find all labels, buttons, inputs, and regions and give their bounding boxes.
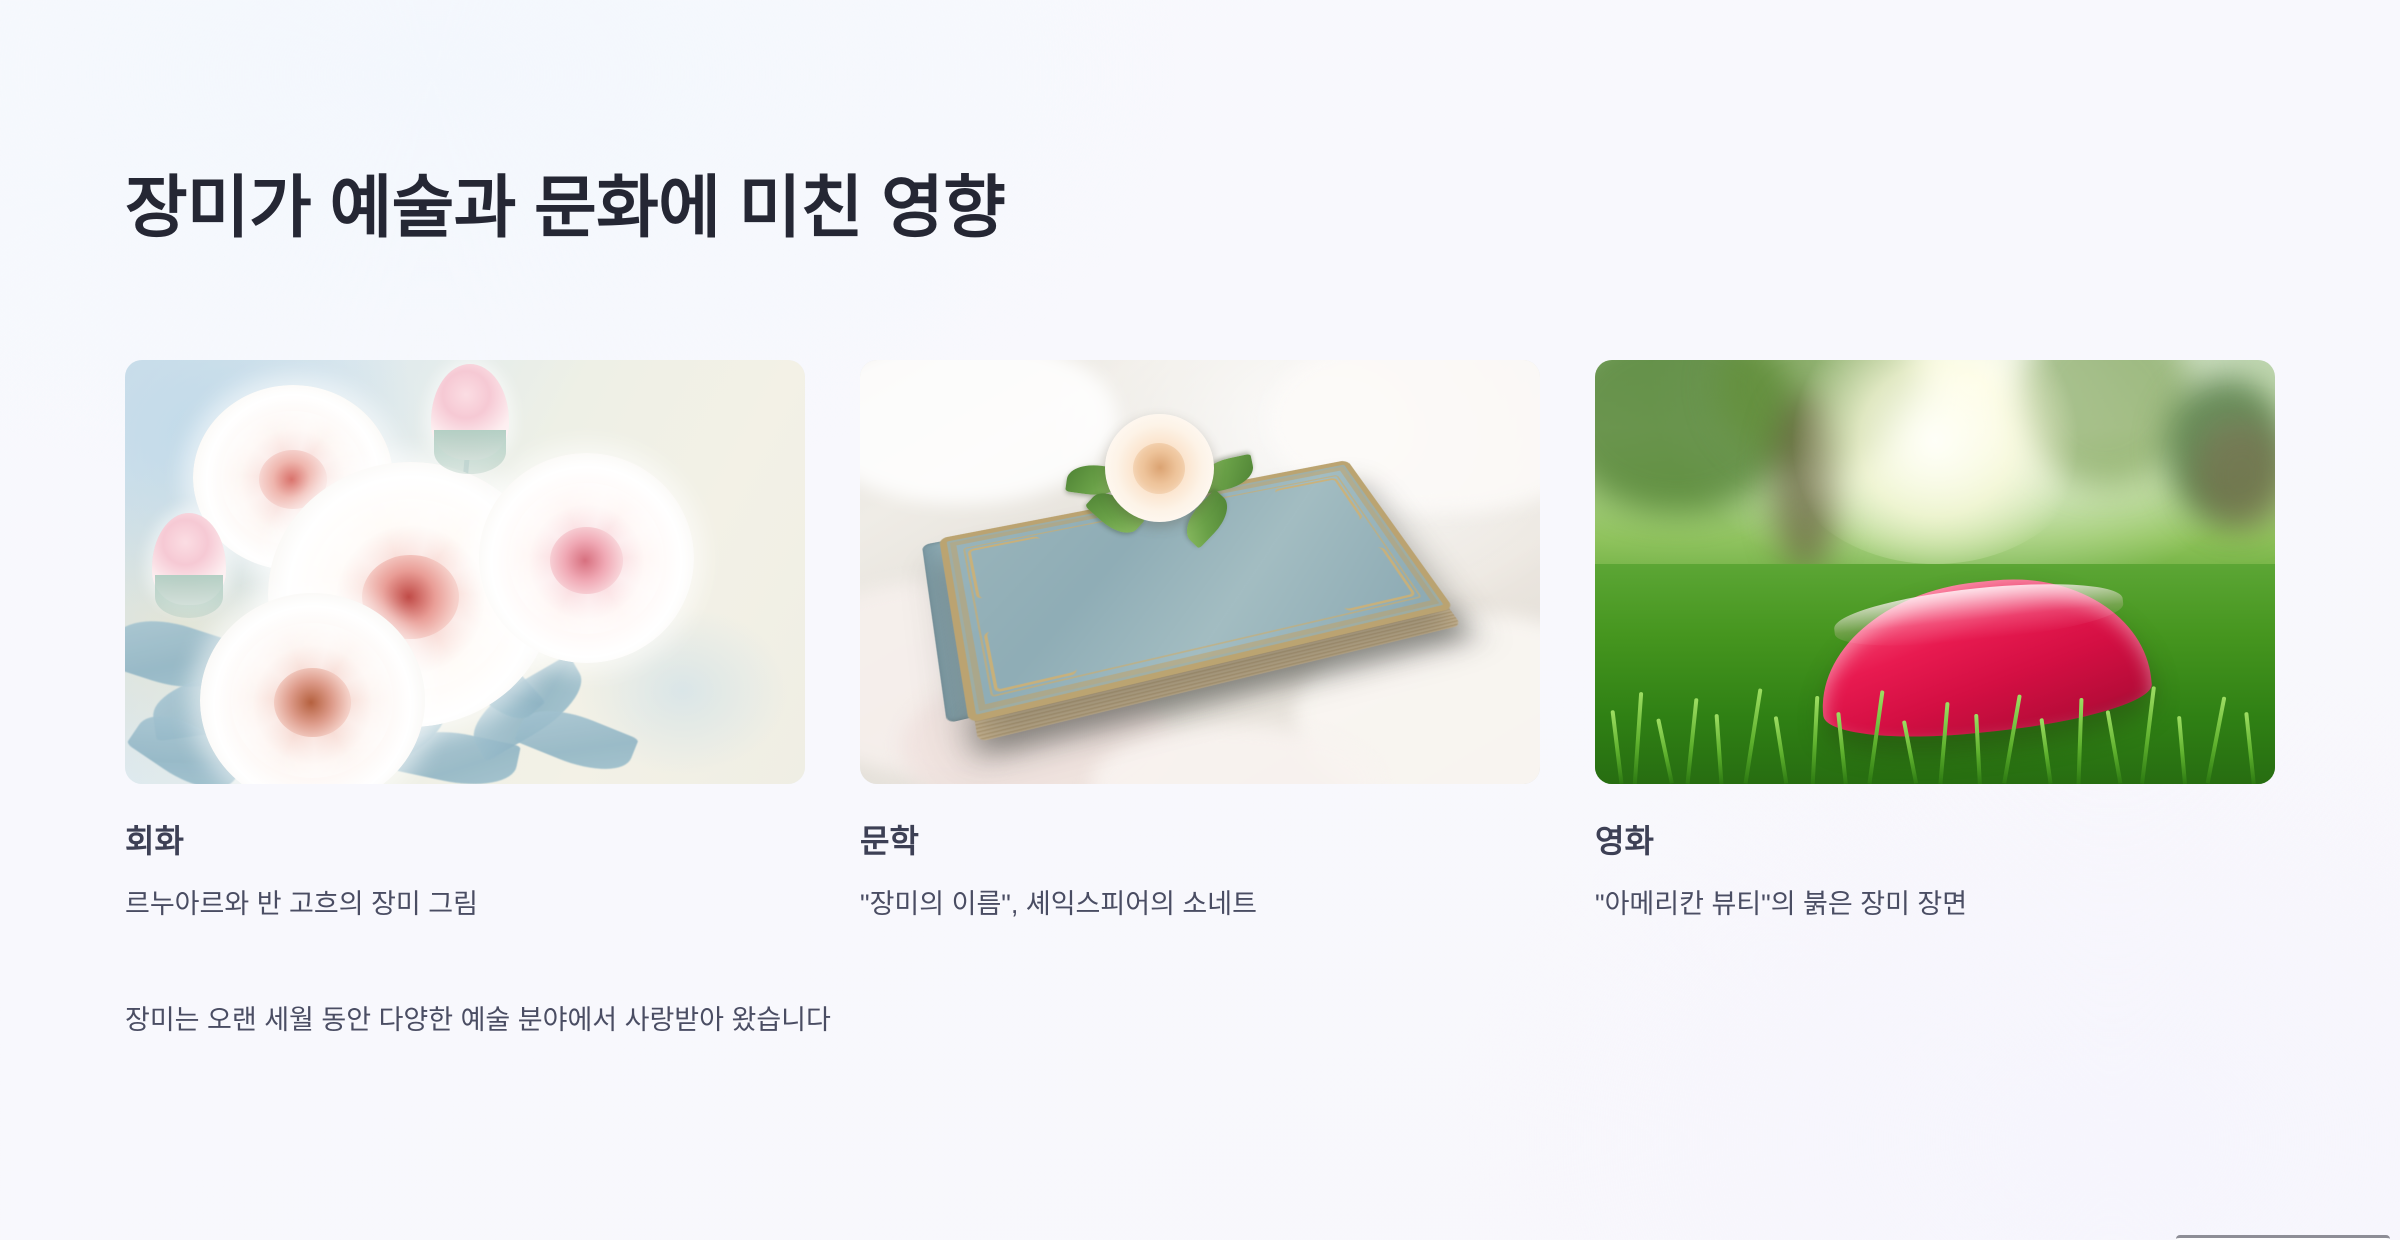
- card-literature-description: "장미의 이름", 셰익스피어의 소네트: [860, 886, 1540, 922]
- card-painting-media[interactable]: [125, 360, 805, 784]
- card-painting-description: 르누아르와 반 고흐의 장미 그림: [125, 886, 805, 922]
- watercolor-white-roses-image: [125, 360, 805, 784]
- book-cover-rose-icon: [1074, 399, 1244, 549]
- card-film[interactable]: 영화 "아메리칸 뷰티"의 붉은 장미 장면: [1595, 360, 2275, 923]
- card-film-title: 영화: [1595, 822, 2275, 860]
- footnote-text: 장미는 오랜 세월 동안 다양한 예술 분야에서 사랑받아 왔습니다: [125, 1002, 831, 1038]
- card-painting[interactable]: 회화 르누아르와 반 고흐의 장미 그림: [125, 360, 805, 923]
- card-painting-title: 회화: [125, 822, 805, 860]
- page-title: 장미가 예술과 문화에 미친 영향: [125, 168, 1005, 248]
- card-literature[interactable]: 문학 "장미의 이름", 셰익스피어의 소네트: [860, 360, 1540, 923]
- card-film-media[interactable]: [1595, 360, 2275, 784]
- page-root: 장미가 예술과 문화에 미친 영향: [0, 0, 2400, 1240]
- card-grid: 회화 르누아르와 반 고흐의 장미 그림: [125, 360, 2275, 923]
- card-literature-media[interactable]: [860, 360, 1540, 784]
- red-rose-petal-on-grass-image: [1595, 360, 2275, 784]
- card-literature-title: 문학: [860, 822, 1540, 860]
- clipped-bottom-panel-edge: [2176, 1235, 2390, 1240]
- antique-book-with-rose-image: [860, 360, 1540, 784]
- card-film-description: "아메리칸 뷰티"의 붉은 장미 장면: [1595, 886, 2275, 922]
